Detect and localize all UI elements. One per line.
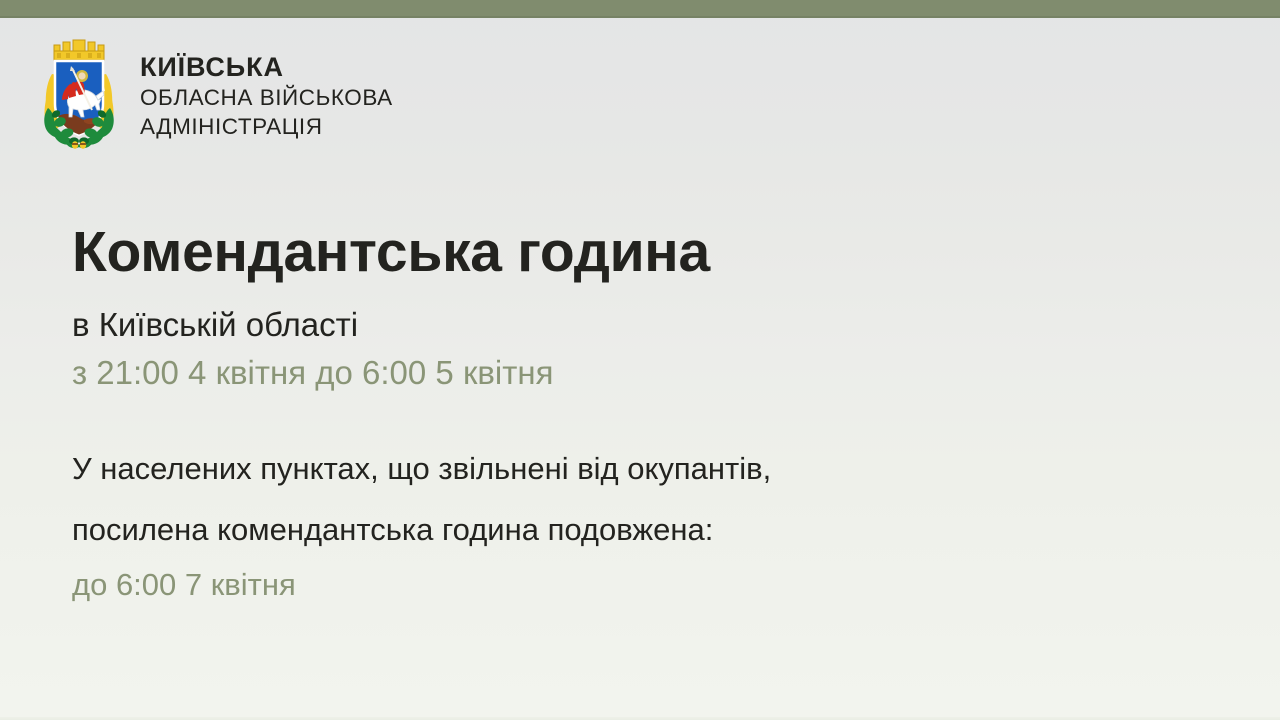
page-title: Комендантська година	[72, 222, 1212, 284]
extended-curfew-time: до 6:00 7 квітня	[72, 562, 1212, 609]
kyiv-oblast-coat-of-arms-icon	[40, 38, 118, 150]
announcement-content: Комендантська година в Київській області…	[72, 222, 1212, 609]
announcement-poster: КИЇВСЬКА ОБЛАСНА ВІЙСЬКОВА АДМІНІСТРАЦІЯ…	[0, 0, 1280, 720]
crown-part	[54, 40, 104, 60]
org-name-line-3: АДМІНІСТРАЦІЯ	[140, 113, 393, 142]
org-name-line-1: КИЇВСЬКА	[140, 52, 393, 84]
region-subtitle: в Київській області	[72, 302, 1212, 349]
org-name-line-2: ОБЛАСНА ВІЙСЬКОВА	[140, 84, 393, 113]
organization-name-block: КИЇВСЬКА ОБЛАСНА ВІЙСЬКОВА АДМІНІСТРАЦІЯ	[140, 38, 393, 141]
top-accent-bar-shadow	[0, 16, 1280, 18]
organization-header: КИЇВСЬКА ОБЛАСНА ВІЙСЬКОВА АДМІНІСТРАЦІЯ	[40, 38, 393, 150]
body-line-1: У населених пунктах, що звільнені від ок…	[72, 439, 1212, 499]
body-line-2: посилена комендантська година подовжена:	[72, 500, 1212, 560]
curfew-time-range: з 21:00 4 квітня до 6:00 5 квітня	[72, 350, 1212, 397]
extended-curfew-note: У населених пунктах, що звільнені від ок…	[72, 439, 1212, 608]
